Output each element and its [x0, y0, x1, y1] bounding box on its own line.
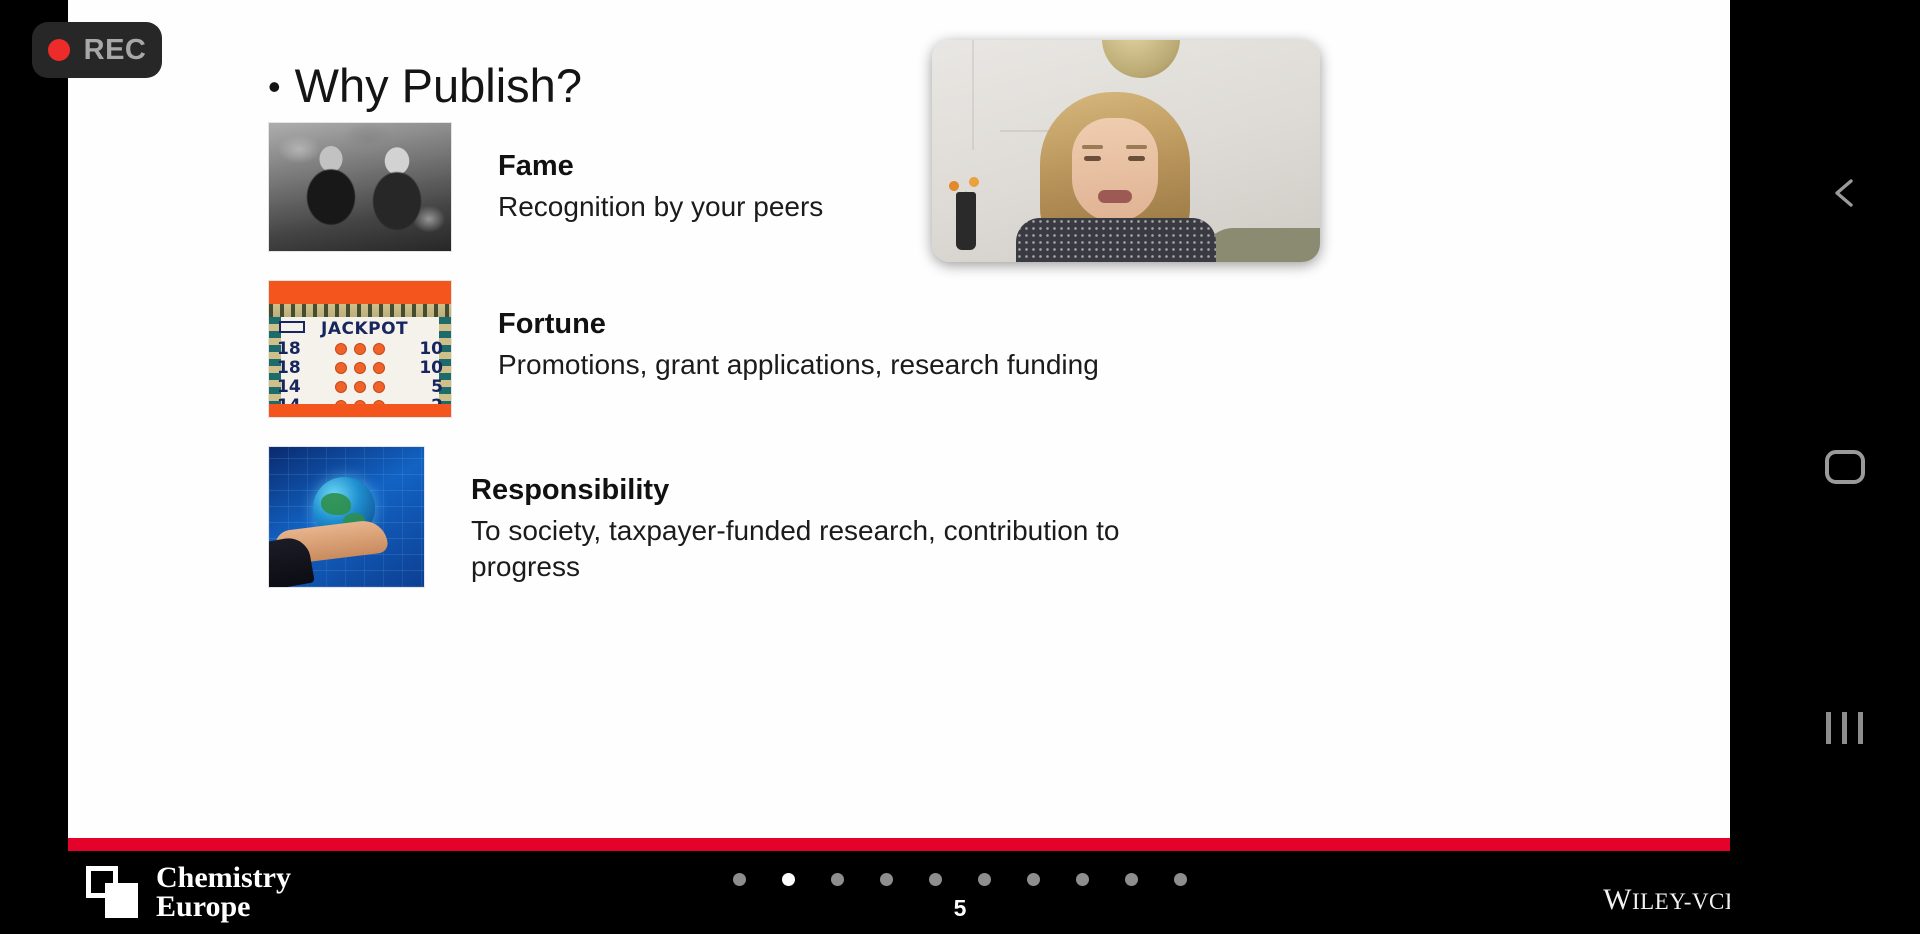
jackpot-row-left: 14 [277, 377, 303, 397]
accent-bar [68, 838, 1730, 851]
chemistry-europe-logo: Chemistry Europe [86, 863, 291, 921]
back-chevron-icon[interactable] [1827, 175, 1863, 211]
recording-badge: REC [32, 22, 162, 78]
pagination-dot-active[interactable] [782, 873, 795, 886]
record-dot-icon [48, 39, 70, 61]
presentation-slide[interactable]: •Why Publish? Fame Recognition by your p… [68, 0, 1730, 851]
pagination-dot[interactable] [733, 873, 746, 886]
row-description: To society, taxpayer-funded research, co… [471, 513, 1120, 585]
bullet-glyph: • [268, 66, 281, 107]
recording-label: REC [84, 34, 147, 67]
jackpot-row-right: 10 [417, 358, 443, 378]
pagination-dot[interactable] [929, 873, 942, 886]
jackpot-heading: JACKPOT [321, 319, 408, 339]
jackpot-row-left: 18 [277, 339, 303, 359]
row-text: Fortune Promotions, grant applications, … [498, 280, 1099, 383]
list-item: JACKPOT 18 10 18 10 [268, 280, 1668, 418]
row-text: Responsibility To society, taxpayer-fund… [471, 446, 1120, 585]
pagination-dot[interactable] [880, 873, 893, 886]
jackpot-row-left: 18 [277, 358, 303, 378]
left-gutter [0, 0, 68, 934]
android-navigation-bar [1770, 0, 1920, 934]
wiley-dash: - [1684, 889, 1692, 914]
right-gutter [1730, 0, 1770, 934]
row-title: Fortune [498, 306, 1099, 342]
row-description: Recognition by your peers [498, 189, 823, 225]
row-text: Fame Recognition by your peers [498, 122, 823, 225]
pagination-dots[interactable] [733, 873, 1187, 886]
pagination-dot[interactable] [831, 873, 844, 886]
wiley-initial: W [1603, 883, 1632, 916]
wiley-vch-logo: WILEY-VCH [1603, 883, 1742, 917]
chemistry-europe-mark-icon [86, 866, 138, 918]
page-title: •Why Publish? [268, 58, 582, 113]
ceiling-lamp [1102, 40, 1180, 78]
brand-line-2: Europe [156, 892, 291, 921]
pagination-dot[interactable] [1125, 873, 1138, 886]
presenter-webcam[interactable] [932, 40, 1320, 262]
row-description: Promotions, grant applications, research… [498, 347, 1099, 383]
pagination-dot[interactable] [1027, 873, 1040, 886]
page-number: 5 [954, 895, 967, 922]
jackpot-row-right: 10 [417, 339, 443, 359]
thumbnail-jackpot-board: JACKPOT 18 10 18 10 [268, 280, 452, 418]
slide-footer: Chemistry Europe 5 WILEY-VCH [0, 851, 1920, 934]
thumbnail-nobel-ceremony [268, 122, 452, 252]
list-item: Responsibility To society, taxpayer-fund… [268, 446, 1668, 588]
pagination-dot[interactable] [1076, 873, 1089, 886]
row-title: Fame [498, 148, 823, 184]
thumbnail-hand-globe [268, 446, 425, 588]
recent-apps-bars-icon[interactable] [1826, 708, 1864, 746]
pagination-dot[interactable] [978, 873, 991, 886]
wiley-rest: ILEY [1632, 889, 1684, 914]
slide-title-text: Why Publish? [295, 59, 582, 112]
presenter-face [1072, 118, 1158, 222]
screen-root: •Why Publish? Fame Recognition by your p… [0, 0, 1920, 934]
pagination-dot[interactable] [1174, 873, 1187, 886]
home-square-icon[interactable] [1825, 450, 1865, 484]
row-title: Responsibility [471, 472, 1120, 508]
jackpot-row-right: 5 [417, 377, 443, 397]
brand-line-1: Chemistry [156, 863, 291, 892]
